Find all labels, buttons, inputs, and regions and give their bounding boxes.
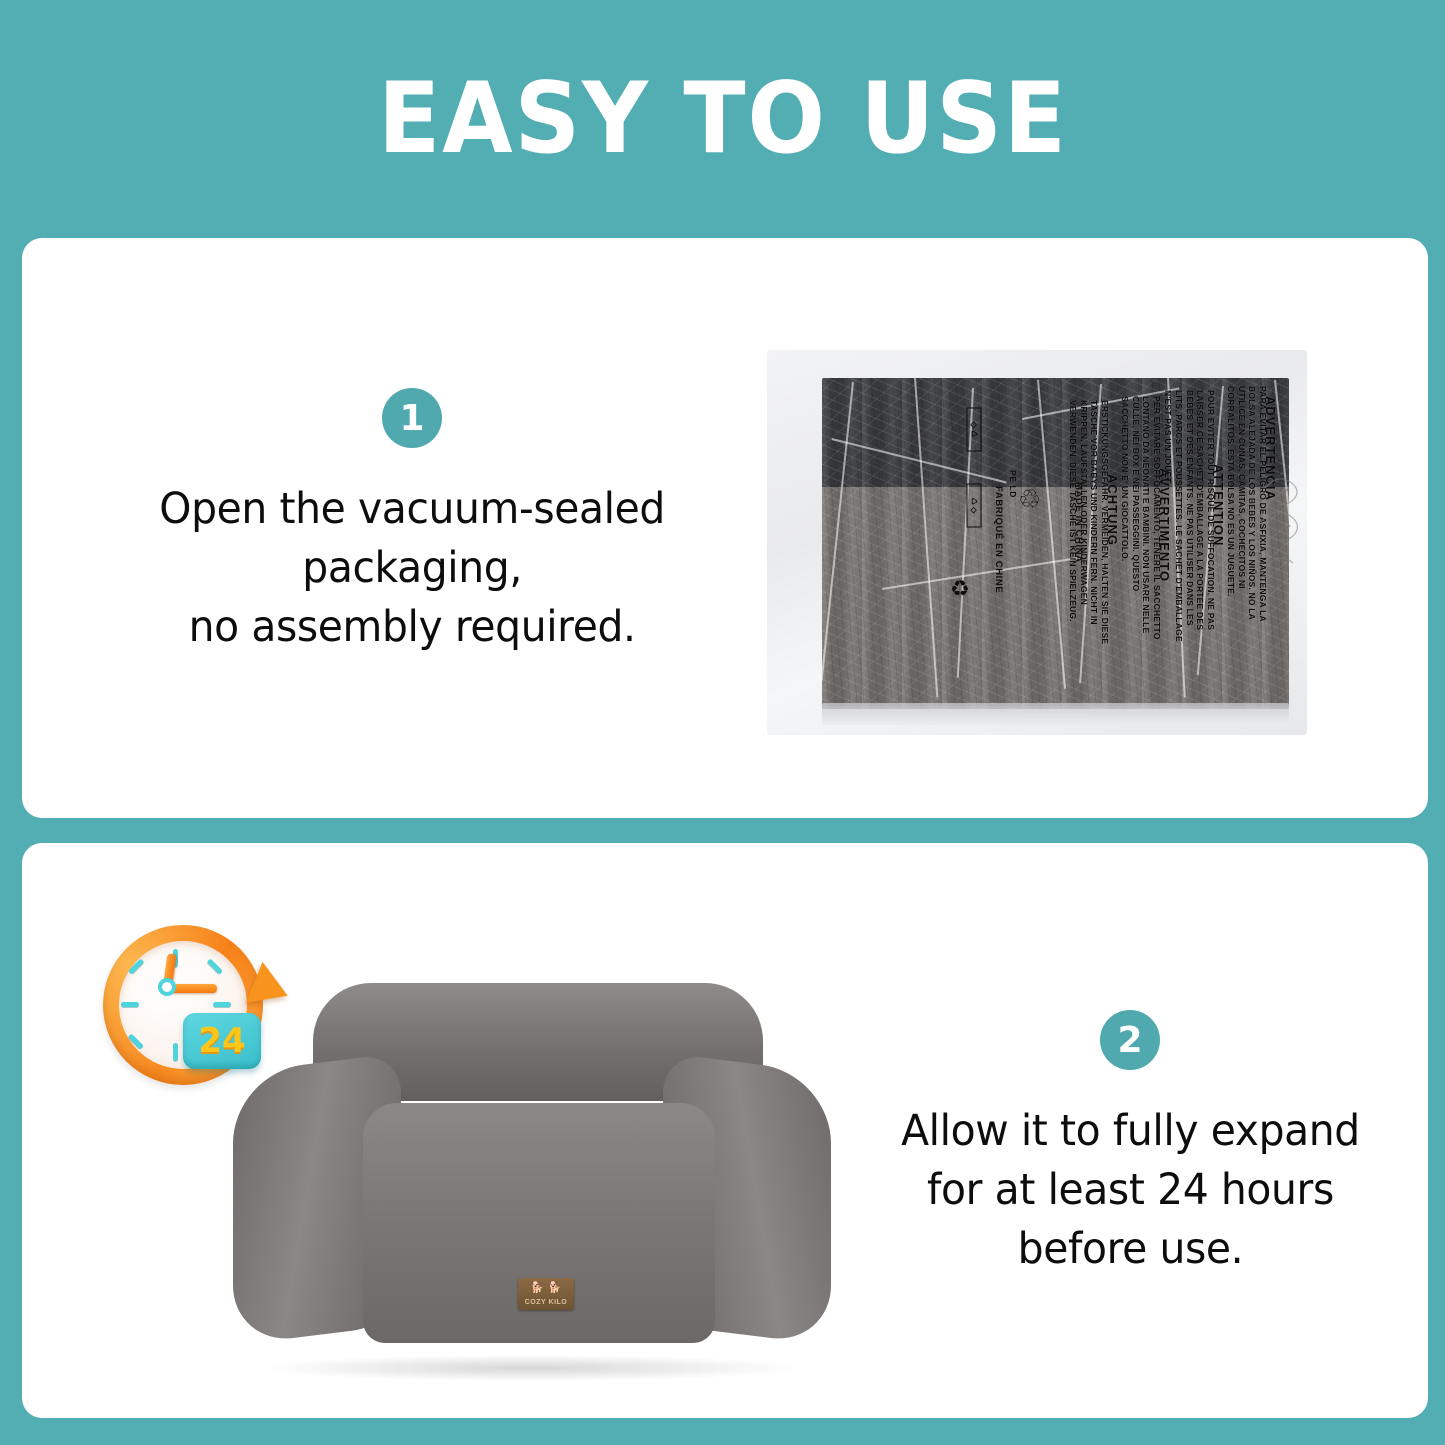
step-number-badge-1: 1 (382, 388, 442, 448)
hours-badge-24: 24 (183, 1013, 261, 1069)
step-2-text: Allow it to fully expand for at least 24… (901, 1102, 1360, 1279)
pet-bed-image: 🐕 🐕 COZY KILO (225, 975, 835, 1375)
material-code-label: PE LD (1008, 470, 1018, 498)
package-bottom-seam (822, 703, 1289, 725)
step-1-line-3: no assembly required. (159, 598, 665, 657)
step-1-line-1: Open the vacuum-sealed (159, 480, 665, 539)
origin-fr-label: FABRIQUÉ EN CHINE (993, 486, 1004, 593)
brand-leather-tag: 🐕 🐕 COZY KILO (518, 1278, 574, 1310)
step-2-content: 2 Allow it to fully expand for at least … (880, 1010, 1380, 1279)
header-band: EASY TO USE (0, 0, 1445, 238)
dog-silhouette-icon: 🐕 🐕 (518, 1283, 574, 1294)
clock-tick (173, 1043, 178, 1061)
clock-tick (121, 1002, 139, 1007)
page-title: EASY TO USE (378, 62, 1068, 176)
step-2-line-1: Allow it to fully expand (901, 1102, 1360, 1161)
step-1-text: Open the vacuum-sealed packaging, no ass… (159, 480, 665, 657)
certification-mark-2: ♺ ◇ (967, 484, 982, 528)
warning-body-it: PER EVITARE SOFFOCAMENTO, TENERE IL SACC… (1120, 396, 1163, 646)
step-1-line-2: packaging, (159, 539, 665, 598)
compressed-bed-block: ◇ ♺ ♺ ◇ ♲ ♻ PE LD FABRIQUÉ EN CHINE MADE… (822, 378, 1289, 709)
recycle-arrows-icon: ♲ (1018, 486, 1041, 512)
step-card-1: 1 Open the vacuum-sealed packaging, no a… (22, 238, 1428, 818)
warning-body-de: ERSTICKUNGSGEFAHR. VERMEIDEN, HALTEN SIE… (1068, 400, 1111, 650)
warning-body-fr: POUR EVITER TOUT RISQUE DE SUFFOCATION, … (1163, 390, 1216, 645)
step-1-content: 1 Open the vacuum-sealed packaging, no a… (62, 388, 762, 657)
vacuum-sealed-package-image: ◇ ♺ ♺ ◇ ♲ ♻ PE LD FABRIQUÉ EN CHINE MADE… (767, 350, 1307, 735)
step-2-line-3: before use. (901, 1220, 1360, 1279)
brand-tag-text: COZY KILO (525, 1299, 567, 1306)
certification-mark-1: ◇ ♺ (967, 408, 982, 452)
step-2-line-2: for at least 24 hours (901, 1161, 1360, 1220)
package-sketch-icon (1259, 460, 1303, 610)
clock-center-hub (158, 978, 176, 996)
step-number-badge-2: 2 (1100, 1010, 1160, 1070)
bed-drop-shadow (265, 1355, 795, 1381)
recycle-solid-icon: ♻ (950, 578, 970, 600)
